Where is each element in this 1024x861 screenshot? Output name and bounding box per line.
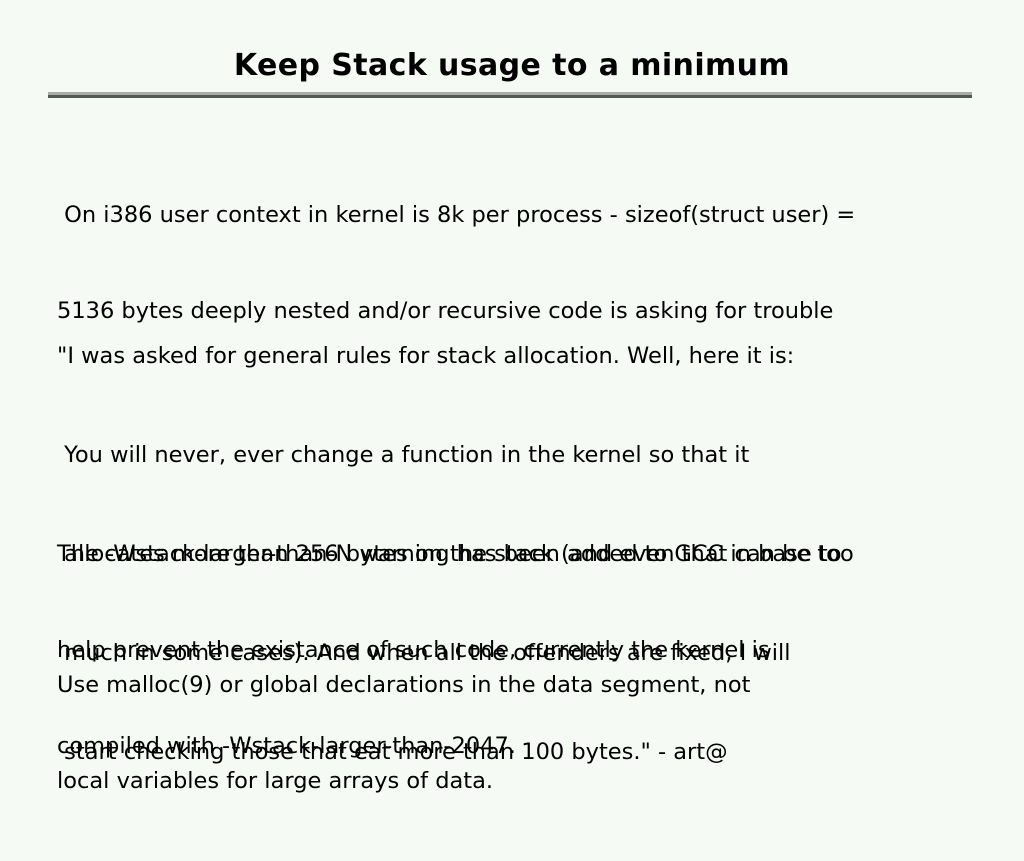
title-divider-rule [48, 92, 972, 98]
quote-line-2: You will never, ever change a function i… [57, 439, 854, 472]
advice-line-2: local variables for large arrays of data… [57, 765, 750, 797]
quote-line-1: "I was asked for general rules for stack… [57, 340, 854, 373]
allocation-advice-paragraph: Use malloc(9) or global declarations in … [57, 605, 750, 861]
divider-shadow [48, 95, 972, 98]
advice-line-1: Use malloc(9) or global declarations in … [57, 669, 750, 701]
presentation-slide: Keep Stack usage to a minimum On i386 us… [0, 0, 1024, 768]
page-title: Keep Stack usage to a minimum [0, 48, 1024, 84]
gcc-line-1: The -Wstack-larger-than-N warning has be… [57, 538, 841, 570]
intro-line-1: On i386 user context in kernel is 8k per… [57, 199, 855, 231]
